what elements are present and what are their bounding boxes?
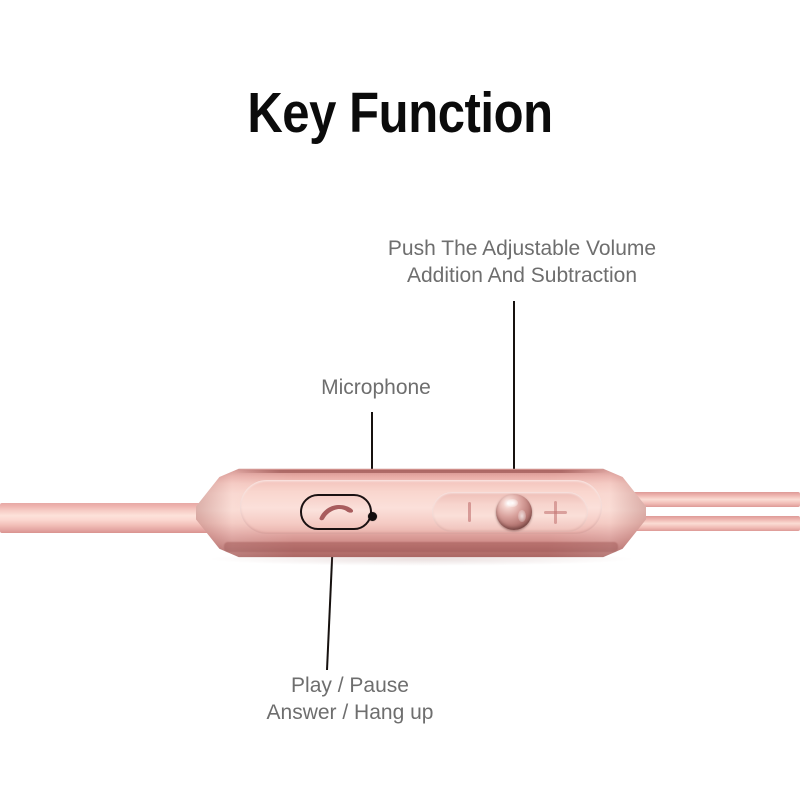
remote-bottom-rim: [224, 542, 618, 552]
callout-microphone-line1: Microphone: [276, 374, 476, 401]
cable-right-upper: [624, 492, 800, 507]
callout-volume-line1: Push The Adjustable Volume: [292, 235, 752, 262]
callout-play-line1: Play / Pause: [205, 672, 495, 699]
cable-left: [0, 503, 222, 533]
callout-volume: Push The Adjustable Volume Addition And …: [292, 235, 752, 289]
callout-play-line2: Answer / Hang up: [205, 699, 495, 726]
inline-remote-module: [196, 466, 646, 558]
page-title: Key Function: [56, 83, 744, 143]
callout-microphone: Microphone: [276, 374, 476, 401]
circle-button-highlight: [507, 499, 518, 507]
volume-up-icon[interactable]: [544, 501, 567, 524]
circle-button-highlight-secondary: [518, 510, 526, 522]
microphone-pinhole: [368, 512, 377, 521]
callout-play-pause: Play / Pause Answer / Hang up: [205, 672, 495, 726]
cable-right-lower: [624, 516, 800, 531]
callout-volume-line2: Addition And Subtraction: [292, 262, 752, 289]
volume-down-icon[interactable]: [468, 502, 471, 522]
phone-handset-icon: [316, 502, 356, 522]
call-button[interactable]: [300, 494, 372, 530]
remote-top-rim: [236, 470, 606, 473]
infographic-canvas: Key Function Push The Adjustable Volume …: [0, 0, 800, 800]
